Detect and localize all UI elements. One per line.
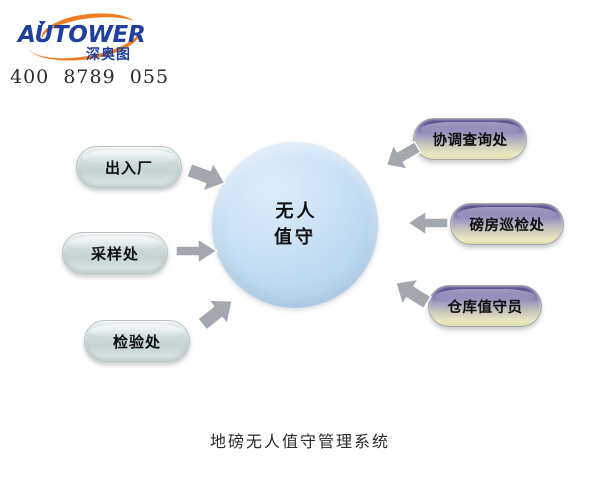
node-churuchang-label: 出入厂 bbox=[105, 157, 153, 178]
node-bangfang-xunjianchu-label: 磅房巡检处 bbox=[470, 214, 545, 235]
node-caiyangchu[interactable]: 采样处 bbox=[62, 232, 168, 274]
node-center-label: 无人 值守 bbox=[273, 199, 318, 251]
node-xietiao-chaxunchu-label: 协调查询处 bbox=[433, 129, 508, 150]
autower-logo: AUTOWER 深奥图 bbox=[14, 12, 154, 64]
node-churuchang[interactable]: 出入厂 bbox=[76, 146, 182, 188]
arrow-jianyanchu-to-center-icon bbox=[196, 290, 240, 334]
node-cangku-zhishouyuan[interactable]: 仓库值守员 bbox=[428, 285, 542, 327]
logo-subtext: 深奥图 bbox=[86, 46, 131, 63]
node-caiyangchu-label: 采样处 bbox=[91, 243, 139, 264]
arrow-center-to-bangfang-icon bbox=[406, 208, 450, 238]
node-jianyanchu[interactable]: 检验处 bbox=[84, 320, 190, 362]
node-cangku-zhishouyuan-label: 仓库值守员 bbox=[448, 296, 523, 317]
node-xietiao-chaxunchu[interactable]: 协调查询处 bbox=[413, 118, 527, 160]
node-center-unattended[interactable]: 无人 值守 bbox=[212, 142, 378, 308]
diagram-canvas: AUTOWER 深奥图 400 8789 055 出入厂 采样处 检验处 无人 … bbox=[0, 0, 600, 480]
node-bangfang-xunjianchu[interactable]: 磅房巡检处 bbox=[450, 203, 564, 245]
diagram-caption: 地磅无人值守管理系统 bbox=[0, 428, 600, 452]
node-jianyanchu-label: 检验处 bbox=[113, 331, 161, 352]
contact-phone-number: 400 8789 055 bbox=[10, 66, 169, 88]
logo-wordmark: AUTOWER bbox=[16, 22, 145, 48]
